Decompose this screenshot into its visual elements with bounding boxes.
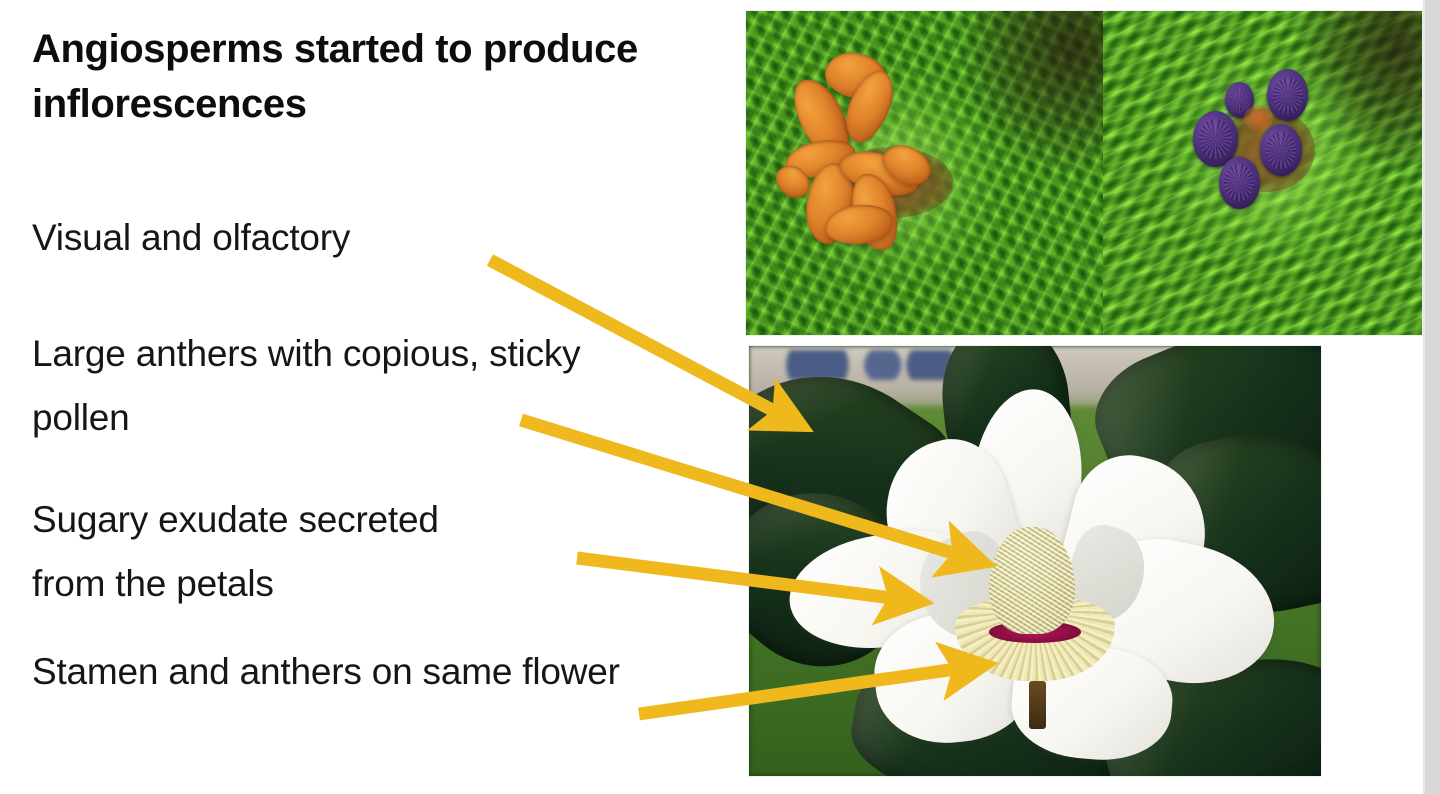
- female-cone: [1219, 157, 1261, 209]
- magnolia-background-blobs: [783, 350, 955, 380]
- pine-photos-group: [745, 10, 1423, 336]
- bullet-stamen-anthers: Stamen and anthers on same flower: [32, 640, 752, 704]
- magnolia-flower-photo: [748, 345, 1322, 777]
- bullet-visual-olfactory: Visual and olfactory: [32, 206, 692, 270]
- magnolia-stem: [1029, 681, 1046, 728]
- bullet-large-anthers: Large anthers with copious, sticky polle…: [32, 322, 592, 450]
- slide-canvas: Angiosperms started to produce infloresc…: [0, 0, 1440, 794]
- page-title: Angiosperms started to produce infloresc…: [32, 22, 672, 132]
- female-cone: [1260, 124, 1302, 176]
- magnolia-carpel-cone: [989, 527, 1075, 635]
- text-column: Angiosperms started to produce infloresc…: [0, 0, 740, 794]
- right-edge-strip[interactable]: [1425, 0, 1440, 794]
- bullet-sugary-exudate: Sugary exudate secreted from the petals: [32, 488, 512, 616]
- pine-bud: [1244, 105, 1273, 131]
- pine-male-cones-photo: [746, 11, 1103, 335]
- pine-female-cones-photo: [1103, 11, 1423, 335]
